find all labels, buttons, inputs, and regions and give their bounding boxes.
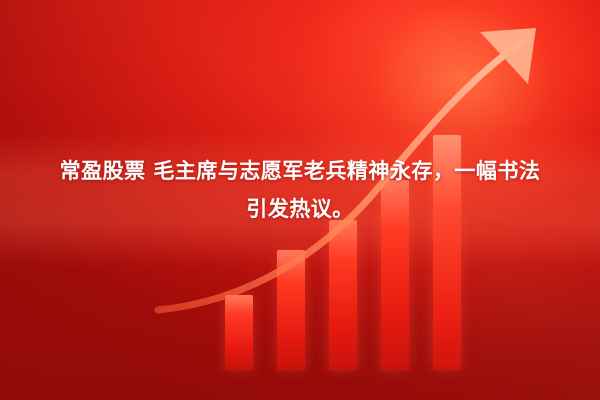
headline-text: 常盈股票 毛主席与志愿军老兵精神永存，一幅书法 引发热议。 [0, 152, 600, 228]
chart-bar-3 [329, 220, 357, 370]
promo-banner: 常盈股票 毛主席与志愿军老兵精神永存，一幅书法 引发热议。 [0, 0, 600, 400]
headline-line-2: 引发热议。 [8, 190, 592, 228]
chart-bar-1 [225, 295, 253, 370]
chart-bar-2 [277, 250, 305, 370]
headline-line-1: 常盈股票 毛主席与志愿军老兵精神永存，一幅书法 [8, 152, 592, 190]
